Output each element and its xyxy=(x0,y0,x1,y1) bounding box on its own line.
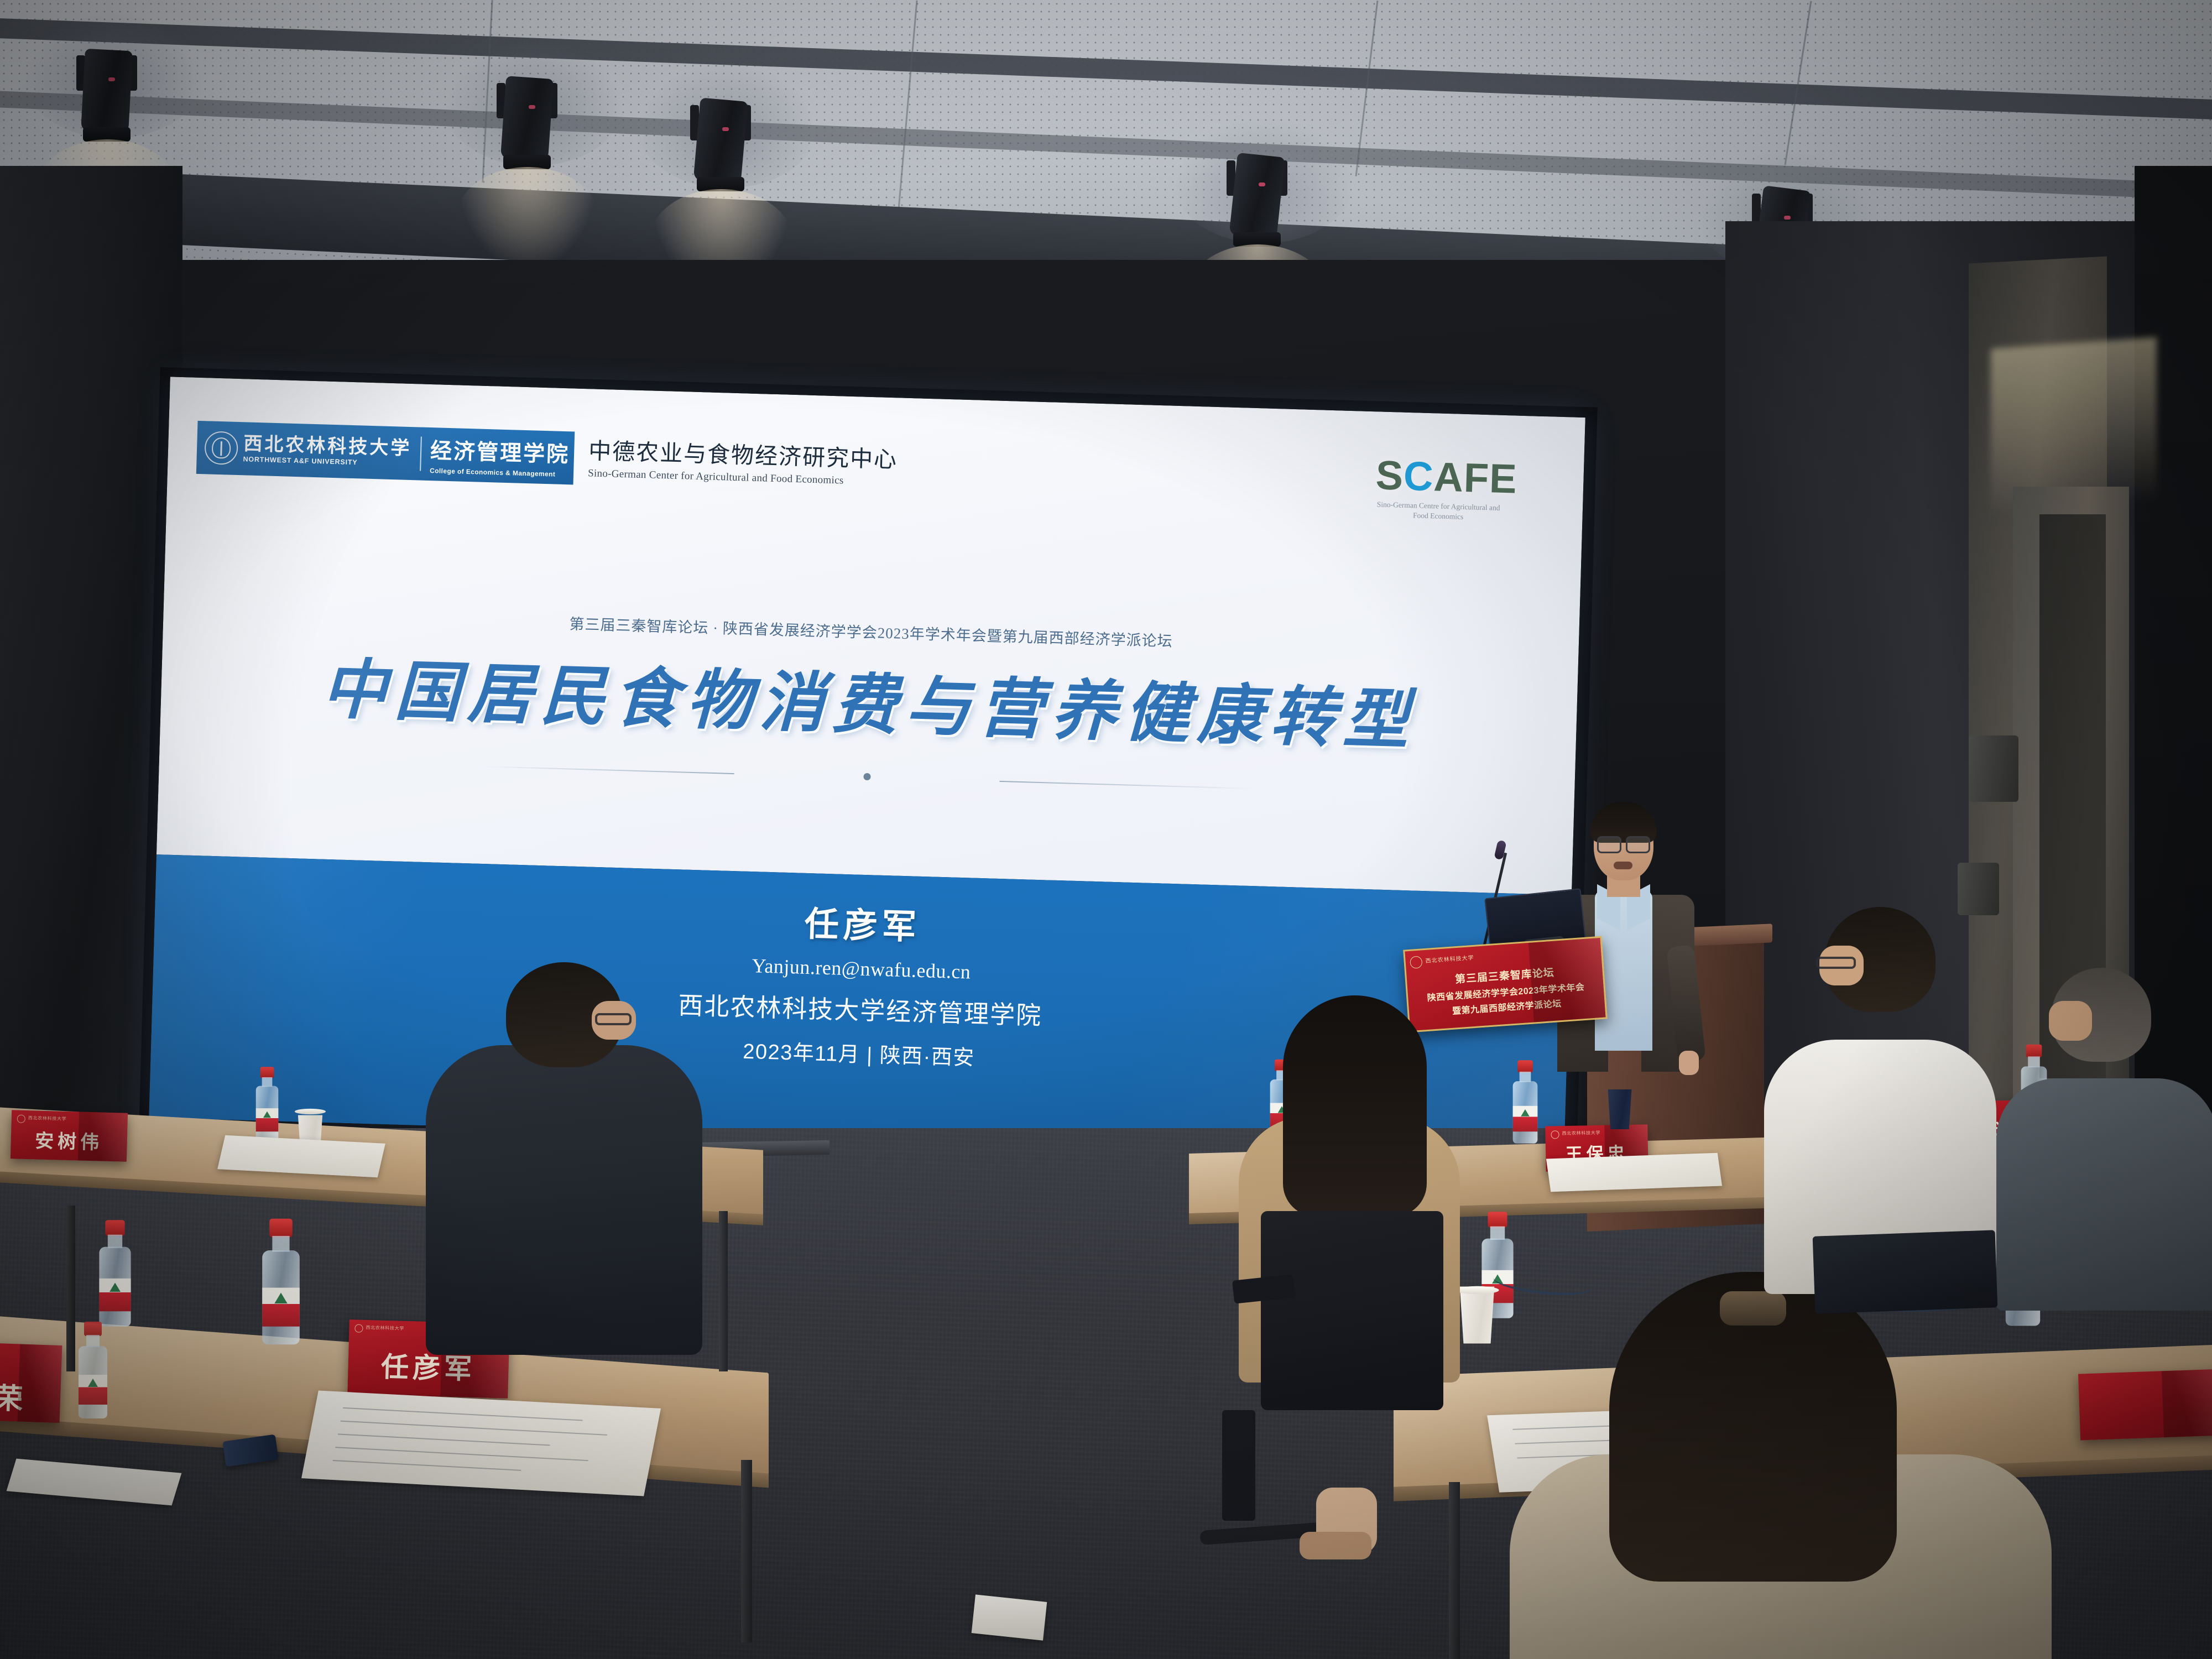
water-bottle[interactable] xyxy=(77,1322,108,1418)
college-name-en: College of Economics & Management xyxy=(430,467,569,478)
scafe-wordmark: SCAFE xyxy=(1375,455,1518,499)
bottle-label xyxy=(262,1288,300,1327)
placard-seal-icon xyxy=(1551,1130,1559,1139)
water-bottle[interactable] xyxy=(261,1219,301,1345)
presenter-glasses-icon xyxy=(1597,836,1650,851)
center-name-cn: 中德农业与食物经济研究中心 xyxy=(588,438,898,473)
placard-seal-icon xyxy=(17,1115,25,1123)
bottle-label xyxy=(1513,1106,1538,1131)
bottle-neck xyxy=(1490,1227,1505,1240)
bottle-logo-icon xyxy=(109,1283,121,1292)
bottle-logo-icon xyxy=(274,1293,287,1304)
table-leg xyxy=(66,1206,75,1371)
name-placard xyxy=(2078,1369,2212,1440)
scafe-letter-c: C xyxy=(1403,453,1434,500)
college-name-cn: 经济管理学院 xyxy=(430,434,570,468)
banner-logo-cn: 西北农林科技大学 xyxy=(1425,955,1474,966)
bottle-label xyxy=(256,1108,279,1131)
bottle-cap xyxy=(105,1220,124,1236)
hair-clip-icon xyxy=(1720,1291,1786,1326)
bottle-logo-icon xyxy=(88,1379,98,1387)
bottle-cap xyxy=(1488,1212,1507,1228)
banner-fabric-fold xyxy=(1528,938,1606,1022)
university-name-block: 西北农林科技大学 NORTHWEST A&F UNIVERSITY xyxy=(243,434,411,468)
placard-fold xyxy=(18,1344,62,1423)
college-name-block: 经济管理学院 College of Economics & Management xyxy=(430,434,570,478)
bottle-neck xyxy=(86,1335,100,1347)
university-name-cn: 西北农林科技大学 xyxy=(243,434,412,458)
bottle-label xyxy=(79,1375,107,1405)
name-placard: 荣 xyxy=(0,1342,62,1423)
bottle-cap xyxy=(269,1219,293,1238)
attendee-hair xyxy=(1283,995,1427,1217)
bottle-neck xyxy=(272,1236,289,1252)
water-bottle[interactable] xyxy=(255,1067,279,1142)
bottle-neck xyxy=(262,1077,273,1087)
table-leg xyxy=(719,1211,728,1371)
bottle-cap xyxy=(84,1322,102,1336)
placard-fold xyxy=(2162,1369,2212,1437)
attendee-front-left xyxy=(409,962,719,1349)
table-leg xyxy=(741,1460,752,1642)
handout-paper[interactable] xyxy=(1546,1153,1722,1192)
attendee-body xyxy=(1996,1078,2212,1311)
bottle-cap xyxy=(260,1067,274,1078)
chair-post xyxy=(1222,1410,1255,1521)
scafe-logo: SCAFE Sino-German Centre for Agricultura… xyxy=(1374,455,1517,524)
university-logo-badge: 西北农林科技大学 NORTHWEST A&F UNIVERSITY 经济管理学院… xyxy=(196,421,575,485)
presenter-hand xyxy=(1679,1051,1699,1075)
placard-seal-icon xyxy=(354,1324,363,1332)
water-bottle[interactable] xyxy=(1512,1060,1538,1144)
placard-logo-text: 西北农林科技大学 xyxy=(366,1325,404,1332)
bottle-label xyxy=(99,1279,131,1311)
placard-logo-text: 西北农林科技大学 xyxy=(28,1115,67,1122)
bottle-logo-icon xyxy=(263,1112,271,1118)
banner-logo-text: 西北农林科技大学 xyxy=(1425,955,1474,966)
attendee-glasses-icon xyxy=(595,1013,632,1025)
cup-rim xyxy=(295,1109,326,1114)
attendee-body xyxy=(426,1045,702,1355)
scafe-letters-afe: AFE xyxy=(1433,453,1517,502)
scafe-subtitle: Sino-German Centre for Agricultural and … xyxy=(1374,499,1502,523)
scafe-letter-s: S xyxy=(1375,452,1405,498)
wall-speaker xyxy=(1969,735,2018,802)
bottle-logo-icon xyxy=(1521,1109,1529,1117)
presenter-mouth xyxy=(1614,862,1632,869)
bottle-neck xyxy=(108,1235,122,1248)
conference-room-photo: XIDIAN UNIVERSITY 西北农林科技大学 NORTHWEST A&F… xyxy=(0,0,2212,1659)
attendee-face xyxy=(2049,1001,2092,1041)
logo-divider xyxy=(420,437,422,471)
attendee-far-right xyxy=(1996,968,2212,1311)
attendee-glasses-icon xyxy=(1816,957,1856,969)
bottle-neck xyxy=(1520,1072,1531,1082)
center-name-block: 中德农业与食物经济研究中心 Sino-German Center for Agr… xyxy=(588,438,898,488)
table-leg xyxy=(1449,1482,1460,1659)
floor-paper xyxy=(972,1594,1047,1640)
attendee-laptop[interactable] xyxy=(1813,1230,1998,1313)
placard-fold xyxy=(78,1112,128,1161)
handout-paper[interactable] xyxy=(301,1390,661,1496)
placard-logo-text: 西北农林科技大学 xyxy=(1562,1130,1600,1137)
water-bottle[interactable] xyxy=(98,1220,132,1327)
banner-seal-icon xyxy=(1410,956,1422,968)
attendee-foreground xyxy=(1510,1272,2052,1659)
chair[interactable] xyxy=(1261,1211,1443,1410)
bottle-cap xyxy=(1517,1060,1533,1072)
attendee-shoe xyxy=(1300,1532,1371,1559)
name-placard: 西北农林科技大学 安树伟 xyxy=(11,1110,128,1161)
university-seal-icon xyxy=(204,431,238,465)
